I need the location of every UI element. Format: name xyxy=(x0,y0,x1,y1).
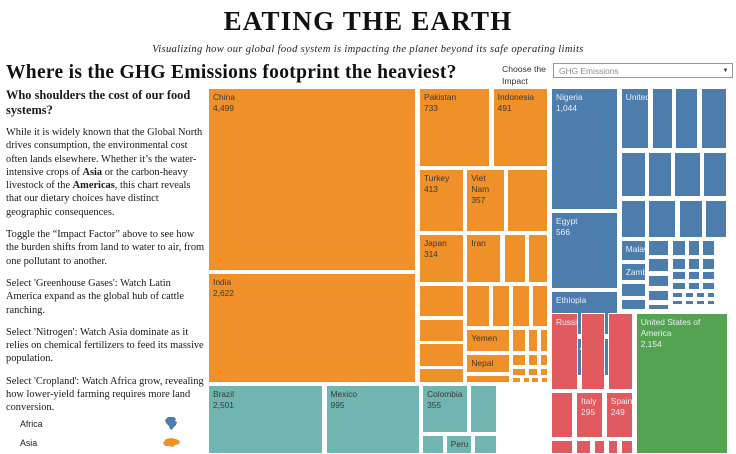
treemap-tile[interactable] xyxy=(621,440,633,454)
treemap-tile[interactable] xyxy=(492,285,510,327)
treemap-tile[interactable] xyxy=(608,313,633,390)
treemap-tile-value: 314 xyxy=(420,249,463,260)
africa-map-icon xyxy=(154,416,188,431)
treemap-tile[interactable] xyxy=(685,292,694,298)
treemap-tile[interactable] xyxy=(528,368,539,376)
treemap-tile[interactable] xyxy=(531,377,539,382)
treemap-tile-label: Turkey xyxy=(420,170,463,184)
treemap-tile[interactable] xyxy=(648,290,669,302)
masthead: EATING THE EARTH Visualizing how our glo… xyxy=(0,0,736,55)
treemap-tile-label: Viet Nam xyxy=(467,170,503,195)
sidebar-paragraph-1: While it is widely known that the Global… xyxy=(6,126,206,219)
treemap-tile[interactable] xyxy=(703,152,727,198)
treemap-tile[interactable] xyxy=(696,292,705,298)
treemap-tile[interactable] xyxy=(702,240,715,256)
page-title: EATING THE EARTH xyxy=(0,6,736,37)
treemap-tile[interactable]: Zambia xyxy=(621,263,646,281)
treemap-tile[interactable] xyxy=(523,377,530,382)
treemap-tile[interactable] xyxy=(512,368,526,376)
treemap-tile[interactable] xyxy=(507,169,548,232)
treemap-tile[interactable]: Nigeria1,044 xyxy=(551,88,618,210)
treemap-tile[interactable] xyxy=(419,285,464,317)
treemap-tile-label: Peru xyxy=(447,436,471,450)
treemap-tile-value: 355 xyxy=(423,400,467,411)
treemap-tile[interactable] xyxy=(419,343,464,366)
treemap-tile[interactable]: India2,622 xyxy=(208,273,416,382)
region-legend: Africa Asia xyxy=(14,414,206,452)
treemap-tile-label: Iran xyxy=(467,235,500,249)
treemap-tile[interactable] xyxy=(672,240,686,256)
chart-question-heading: Where is the GHG Emissions footprint the… xyxy=(6,62,457,84)
treemap-tile[interactable]: Peru xyxy=(446,435,472,454)
treemap-tile[interactable] xyxy=(688,271,699,280)
treemap-tile[interactable] xyxy=(648,258,669,272)
treemap-tile[interactable] xyxy=(581,313,605,390)
treemap-tile[interactable] xyxy=(675,88,699,149)
treemap-tile[interactable] xyxy=(648,200,676,238)
treemap-tile[interactable] xyxy=(621,283,646,296)
treemap-tile-label: India xyxy=(209,274,415,288)
treemap-tile-value: 995 xyxy=(327,400,419,411)
treemap-tile[interactable] xyxy=(621,152,646,198)
treemap-tile[interactable] xyxy=(672,300,683,305)
body-area: Who shoulders the cost of our food syste… xyxy=(0,88,736,454)
sidebar-heading: Who shoulders the cost of our food syste… xyxy=(6,88,206,118)
treemap-tile-label: Egypt xyxy=(552,213,617,227)
legend-item-label: Asia xyxy=(14,438,154,448)
treemap-tile[interactable]: Spain249 xyxy=(606,392,633,438)
treemap-tile[interactable] xyxy=(474,435,497,454)
treemap-tile[interactable] xyxy=(540,354,547,366)
treemap-tile-label: Mexico xyxy=(327,386,419,400)
treemap-tile[interactable] xyxy=(648,152,671,198)
treemap-tile[interactable] xyxy=(551,440,573,454)
treemap-tile-label: United xyxy=(622,89,649,103)
treemap-tile-label: Pakistan xyxy=(420,89,490,103)
legend-item-label: Africa xyxy=(14,419,154,429)
impact-factor-select[interactable]: GHG Emissions ▼ xyxy=(553,63,733,78)
treemap-tile[interactable]: Colombia355 xyxy=(422,385,468,433)
treemap-tile-value: 249 xyxy=(607,407,632,418)
treemap-tile[interactable] xyxy=(419,319,464,342)
dashboard-root: EATING THE EARTH Visualizing how our glo… xyxy=(0,0,736,454)
treemap-tile[interactable]: United xyxy=(621,88,650,149)
treemap-tile-value: 733 xyxy=(420,103,490,114)
treemap-tile[interactable]: Mexico995 xyxy=(326,385,420,454)
treemap-tile-value: 413 xyxy=(420,184,463,195)
legend-item-africa[interactable]: Africa xyxy=(14,414,206,433)
narrative-sidebar: Who shoulders the cost of our food syste… xyxy=(6,88,206,454)
treemap-tile[interactable] xyxy=(528,329,539,352)
treemap-tile[interactable]: China4,499 xyxy=(208,88,416,271)
treemap-tile[interactable] xyxy=(688,240,699,256)
treemap-tile[interactable] xyxy=(688,282,699,289)
treemap-tile[interactable] xyxy=(504,234,526,283)
legend-item-asia[interactable]: Asia xyxy=(14,433,206,452)
treemap-tile[interactable] xyxy=(648,304,669,310)
treemap-tile[interactable] xyxy=(672,258,686,269)
treemap-tile[interactable]: Italy295 xyxy=(576,392,603,438)
treemap-tile-value: 2,501 xyxy=(209,400,322,411)
treemap-tile[interactable] xyxy=(702,271,715,280)
treemap-tile-label: Brazil xyxy=(209,386,322,400)
treemap-tile[interactable]: Iran xyxy=(466,234,501,283)
treemap-tile[interactable]: Nepal xyxy=(466,354,509,373)
treemap-tile[interactable] xyxy=(679,200,704,238)
treemap-tile[interactable] xyxy=(528,234,547,283)
treemap-tile[interactable] xyxy=(688,258,699,269)
treemap-tile-label: Italy xyxy=(577,393,602,407)
treemap-tile[interactable] xyxy=(648,240,669,256)
treemap-chart[interactable]: China4,499India2,622Pakistan733Indonesia… xyxy=(208,88,730,454)
treemap-tile-label: Nigeria xyxy=(552,89,617,103)
treemap-tile[interactable] xyxy=(551,392,573,438)
asia-map-icon xyxy=(154,436,188,449)
treemap-tile-label: Japan xyxy=(420,235,463,249)
treemap-tile-label: Spain xyxy=(607,393,632,407)
treemap-tile[interactable] xyxy=(540,368,547,376)
treemap-tile[interactable] xyxy=(512,377,521,382)
treemap-tile[interactable]: Brazil2,501 xyxy=(208,385,323,454)
treemap-tile[interactable] xyxy=(512,329,526,352)
treemap-tile[interactable] xyxy=(419,368,464,382)
treemap-tile[interactable]: Viet Nam357 xyxy=(466,169,504,232)
treemap-tile[interactable] xyxy=(466,375,509,383)
treemap-tile[interactable] xyxy=(707,300,714,305)
sidebar-paragraph-4: Select 'Nitrogen': Watch Asia dominate a… xyxy=(6,326,206,366)
treemap-tile-value: 491 xyxy=(494,103,547,114)
treemap-tile[interactable] xyxy=(621,200,646,238)
treemap-tile[interactable]: Turkey413 xyxy=(419,169,464,232)
treemap-tile[interactable] xyxy=(652,88,673,149)
treemap-tile[interactable] xyxy=(608,440,619,454)
treemap-tile[interactable] xyxy=(422,435,443,454)
treemap-tile-value: 4,499 xyxy=(209,103,415,114)
page-subtitle: Visualizing how our global food system i… xyxy=(0,44,736,55)
treemap-tile-value: 357 xyxy=(467,195,503,206)
treemap-tile[interactable] xyxy=(594,440,605,454)
treemap-tile-label: Nepal xyxy=(467,355,508,369)
treemap-tile[interactable] xyxy=(470,385,497,433)
treemap-tile-value: 1,044 xyxy=(552,103,617,114)
sidebar-paragraph-3: Select 'Greenhouse Gases': Watch Latin A… xyxy=(6,277,206,317)
treemap-tile-value: 2,154 xyxy=(637,339,727,350)
treemap-tile[interactable]: Japan314 xyxy=(419,234,464,283)
treemap-tile[interactable] xyxy=(696,300,705,305)
treemap-tile[interactable] xyxy=(541,377,548,382)
treemap-tile-label: Malawi xyxy=(622,241,645,255)
treemap-tile-value: 2,622 xyxy=(209,288,415,299)
treemap-tile[interactable] xyxy=(672,271,686,280)
treemap-tile[interactable] xyxy=(540,329,547,352)
treemap-tile[interactable] xyxy=(466,285,490,327)
treemap-tile[interactable] xyxy=(705,200,726,238)
treemap-tile-label: Yemen xyxy=(467,330,508,344)
treemap-tile[interactable] xyxy=(674,152,700,198)
treemap-tile-label: United States of America xyxy=(637,314,727,339)
treemap-tile-label: Indonesia xyxy=(494,89,547,103)
treemap-tile[interactable] xyxy=(648,275,669,288)
treemap-tile[interactable]: United States of America2,154 xyxy=(636,313,728,454)
treemap-tile[interactable] xyxy=(672,282,686,289)
treemap-tile-value: 295 xyxy=(577,407,602,418)
sidebar-paragraph-2: Toggle the “Impact Factor” above to see … xyxy=(6,228,206,268)
treemap-tile[interactable] xyxy=(707,292,714,298)
treemap-tile[interactable] xyxy=(576,440,591,454)
treemap-tile[interactable]: Yemen xyxy=(466,329,509,352)
impact-factor-selected-value: GHG Emissions xyxy=(554,66,719,76)
chevron-down-icon[interactable]: ▼ xyxy=(719,64,732,77)
treemap-tile[interactable]: Malawi xyxy=(621,240,646,260)
treemap-tile[interactable]: Egypt566 xyxy=(551,212,618,289)
treemap-tile-label: China xyxy=(209,89,415,103)
treemap-tile-label: Russian xyxy=(552,314,577,328)
treemap-tile-value: 566 xyxy=(552,227,617,238)
sidebar-paragraph-5: Select 'Cropland': Watch Africa grow, re… xyxy=(6,375,206,415)
treemap-tile-label: Ethiopia xyxy=(552,292,617,306)
treemap-tile[interactable] xyxy=(685,300,694,305)
treemap-tile-label: Zambia xyxy=(622,264,645,278)
treemap-tile[interactable] xyxy=(702,282,715,289)
treemap-tile-label: Colombia xyxy=(423,386,467,400)
treemap-tile[interactable] xyxy=(528,354,539,366)
treemap-tile[interactable] xyxy=(672,292,683,298)
treemap-tile[interactable]: Russian xyxy=(551,313,578,390)
treemap-tile[interactable]: Pakistan733 xyxy=(419,88,491,167)
treemap-tile[interactable] xyxy=(512,354,526,366)
treemap-tile[interactable] xyxy=(621,299,646,310)
treemap-tile[interactable]: Indonesia491 xyxy=(493,88,548,167)
treemap-tile[interactable] xyxy=(512,285,530,327)
treemap-tile[interactable] xyxy=(532,285,547,327)
treemap-tile[interactable] xyxy=(701,88,727,149)
treemap-tile[interactable] xyxy=(702,258,715,269)
